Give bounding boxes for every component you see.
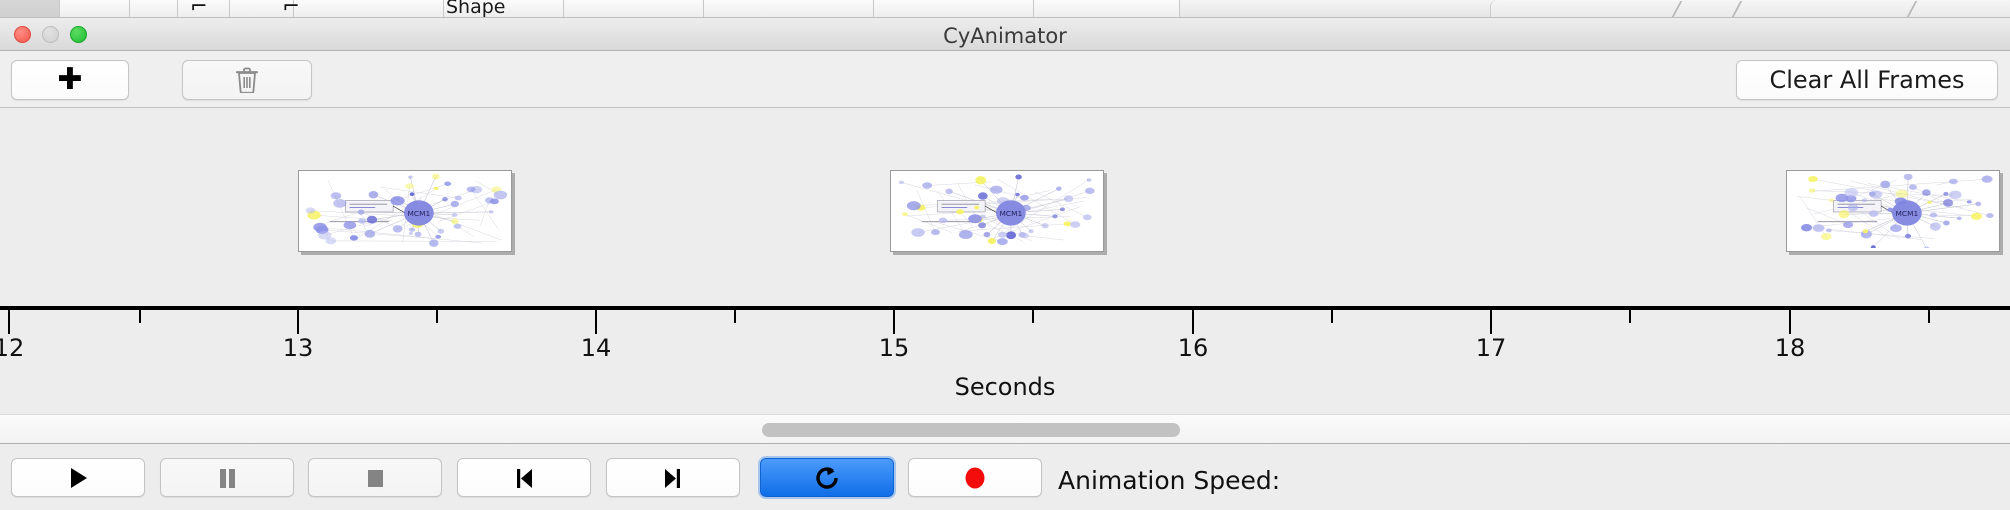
record-button[interactable] [908,458,1042,497]
frame-thumbnail: MCM1 [302,174,508,248]
axis-tick-major [893,310,895,334]
play-button[interactable] [11,458,145,497]
scrollbar-thumb[interactable] [762,423,1180,437]
axis-tick-label: 12 [0,334,24,362]
frame-thumbnail: MCM1 [1790,174,1996,248]
skip-back-icon [509,463,539,493]
frame-thumbnail: MCM1 [894,174,1100,248]
loop-icon [811,462,843,494]
axis-tick-label: 15 [879,334,910,362]
play-icon [63,463,93,493]
axis-tick-major [1490,310,1492,334]
plus-icon: ✚ [57,65,82,95]
playback-bar: Animation Speed: [0,444,2010,510]
axis-tick-major [297,310,299,334]
background-tab [564,0,704,18]
next-button[interactable] [606,458,740,497]
timeline-frame[interactable]: MCM1 [298,170,512,252]
axis-tick-minor [1331,310,1333,323]
background-window-text: Shape [446,0,506,18]
background-tabbar [0,0,1180,18]
window-title: CyAnimator [0,24,2010,48]
previous-button[interactable] [457,458,591,497]
background-tab [874,0,1034,18]
axis-tick-minor [1629,310,1631,323]
background-window-right-edge [1490,0,2010,18]
pause-icon [212,463,242,493]
stop-button[interactable] [308,458,442,497]
timeline-frame[interactable]: MCM1 [890,170,1104,252]
axis-tick-minor [734,310,736,323]
animation-speed-label: Animation Speed: [1058,466,1280,495]
add-frame-button[interactable]: ✚ [11,60,129,100]
stop-icon [360,463,390,493]
svg-text:MCM1: MCM1 [408,209,431,218]
timeline-panel[interactable]: MCM1 MCM1 [0,108,2010,414]
axis-tick-label: 16 [1178,334,1209,362]
axis-tick-minor [1928,310,1930,323]
axis-tick-label: 18 [1775,334,1806,362]
axis-tick-minor [139,310,141,323]
axis-tick-minor [1032,310,1034,323]
background-tab [1034,0,1180,18]
record-icon [960,463,990,493]
axis-tick-minor [436,310,438,323]
axis-tick-major [8,310,10,334]
title-bar: CyAnimator [0,18,2010,51]
background-tab [60,0,130,18]
axis-tick-major [1789,310,1791,334]
timeline-frame[interactable]: MCM1 [1786,170,2000,252]
skip-fwd-icon [658,463,688,493]
clear-all-frames-button[interactable]: Clear All Frames [1736,60,1998,100]
pause-button[interactable] [160,458,294,497]
svg-text:MCM1: MCM1 [1000,209,1023,218]
axis-tick-major [595,310,597,334]
loop-button[interactable] [760,458,894,497]
axis-tick-label: 13 [283,334,314,362]
clear-all-frames-label: Clear All Frames [1769,66,1964,94]
background-glyphs: ⌐ ⌐ [190,0,334,18]
axis-tick-label: 14 [581,334,612,362]
timeline-axis [0,306,2010,310]
cyanimator-window: ⌐ ⌐ Shape CyAnimator ✚ [0,0,2010,510]
trash-icon [236,67,258,93]
background-window-strip: ⌐ ⌐ Shape [0,0,2010,18]
horizontal-scrollbar[interactable] [0,414,2010,444]
background-tab [0,0,60,18]
axis-tick-major [1192,310,1194,334]
background-tab [130,0,178,18]
background-tab [704,0,874,18]
axis-title: Seconds [0,373,2010,401]
svg-text:MCM1: MCM1 [1896,209,1919,218]
delete-frame-button[interactable] [182,60,312,100]
axis-tick-label: 17 [1476,334,1507,362]
toolbar: ✚ Clear All Frames [0,51,2010,108]
